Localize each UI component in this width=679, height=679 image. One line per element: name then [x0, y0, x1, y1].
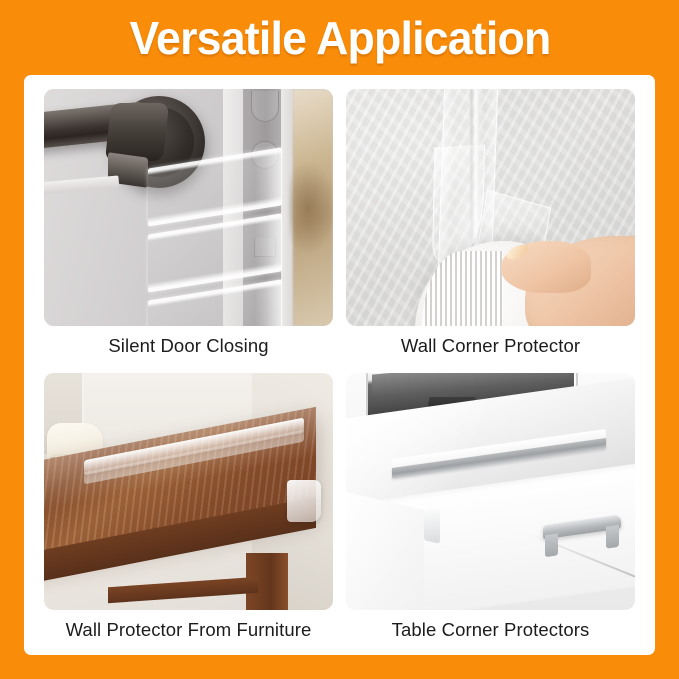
thumb	[501, 241, 591, 293]
photo-silent-door-closing	[44, 89, 333, 326]
photo-wall-protector-from-furniture	[44, 373, 333, 610]
panel-caption: Silent Door Closing	[44, 326, 333, 365]
panel-wall-corner-protector[interactable]: Wall Corner Protector	[346, 89, 635, 365]
door-detail-slot-icon	[251, 91, 279, 122]
room-background	[293, 89, 333, 326]
photo-table-corner-protectors	[346, 373, 635, 610]
panel-silent-door-closing[interactable]: Silent Door Closing	[44, 89, 333, 365]
cabinet-handle-leg	[606, 525, 619, 549]
title-bar: Versatile Application	[0, 0, 679, 75]
panel-table-corner-protectors[interactable]: Table Corner Protectors	[346, 373, 635, 649]
panel-wall-protector-from-furniture[interactable]: Wall Protector From Furniture	[44, 373, 333, 649]
panels-card: Silent Door Closing	[24, 75, 655, 655]
panel-caption: Table Corner Protectors	[346, 610, 635, 649]
hand	[525, 236, 635, 326]
product-infographic: Versatile Application	[0, 0, 679, 679]
panels-grid: Silent Door Closing	[44, 89, 635, 641]
table-corner-protector	[424, 506, 440, 543]
photo-wall-corner-protector	[346, 89, 635, 326]
page-title: Versatile Application	[129, 15, 550, 61]
panel-caption: Wall Protector From Furniture	[44, 610, 333, 649]
desk-stretcher	[108, 576, 258, 603]
panel-caption: Wall Corner Protector	[346, 326, 635, 365]
wall-protector-end-cap	[287, 480, 321, 522]
